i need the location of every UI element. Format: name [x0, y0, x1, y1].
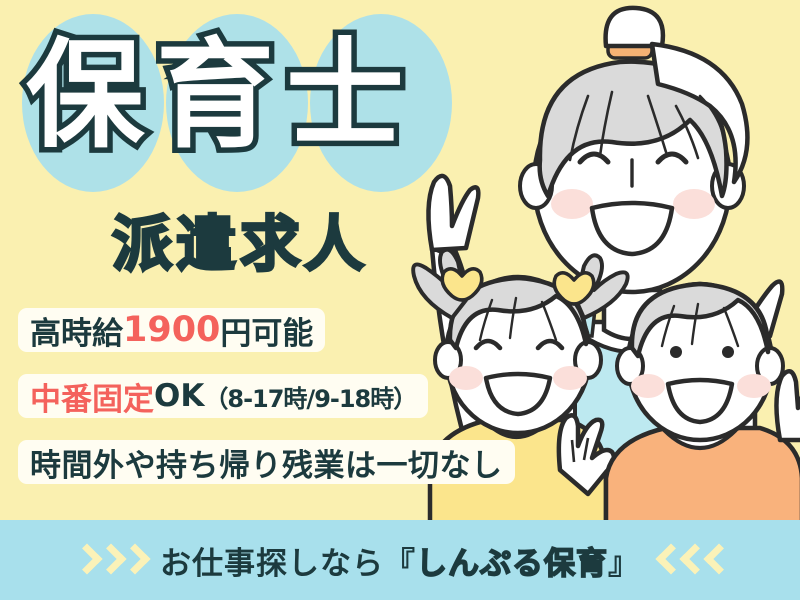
feature-text: 時間外や持ち帰り残業は一切なし [30, 440, 503, 485]
title-area: 保育士 派遣求人 [0, 0, 460, 270]
feature-text: OK [154, 378, 204, 414]
feature-box-shift: 中番固定OK（8-17時/9-18時） [18, 374, 428, 418]
tagline-prefix: お仕事探しなら『 [160, 546, 416, 582]
shift-highlight: 中番固定 [30, 374, 154, 419]
job-ad-banner: 保育士 派遣求人 高時給1900円可能 中番固定OK（8-17時/9-18時） … [0, 0, 800, 600]
chevrons-left-pointing [658, 543, 728, 577]
page-title: 保育士 [26, 34, 456, 158]
shift-hours: （8-17時/9-18時） [204, 379, 416, 414]
wage-amount: 1900 [123, 310, 220, 350]
feature-box-wage: 高時給1900円可能 [18, 308, 325, 352]
feature-text: 円可能 [220, 308, 313, 353]
tagline-suffix: 』 [608, 546, 640, 582]
chevron-left-icon [706, 543, 728, 577]
ribbon-tagline: お仕事探しなら『しんぷる保育』 [160, 538, 640, 583]
page-subtitle: 派遣求人 [112, 196, 368, 283]
chevron-right-icon [72, 543, 94, 577]
chevron-right-icon [96, 543, 118, 577]
feature-box-overtime: 時間外や持ち帰り残業は一切なし [18, 440, 515, 484]
chevrons-right-pointing [72, 543, 142, 577]
chevron-right-icon [120, 543, 142, 577]
bottom-ribbon: お仕事探しなら『しんぷる保育』 [0, 520, 800, 600]
feature-text: 高時給 [30, 308, 123, 353]
brand-name: しんぷる保育 [416, 546, 608, 582]
chevron-left-icon [658, 543, 680, 577]
chevron-left-icon [682, 543, 704, 577]
